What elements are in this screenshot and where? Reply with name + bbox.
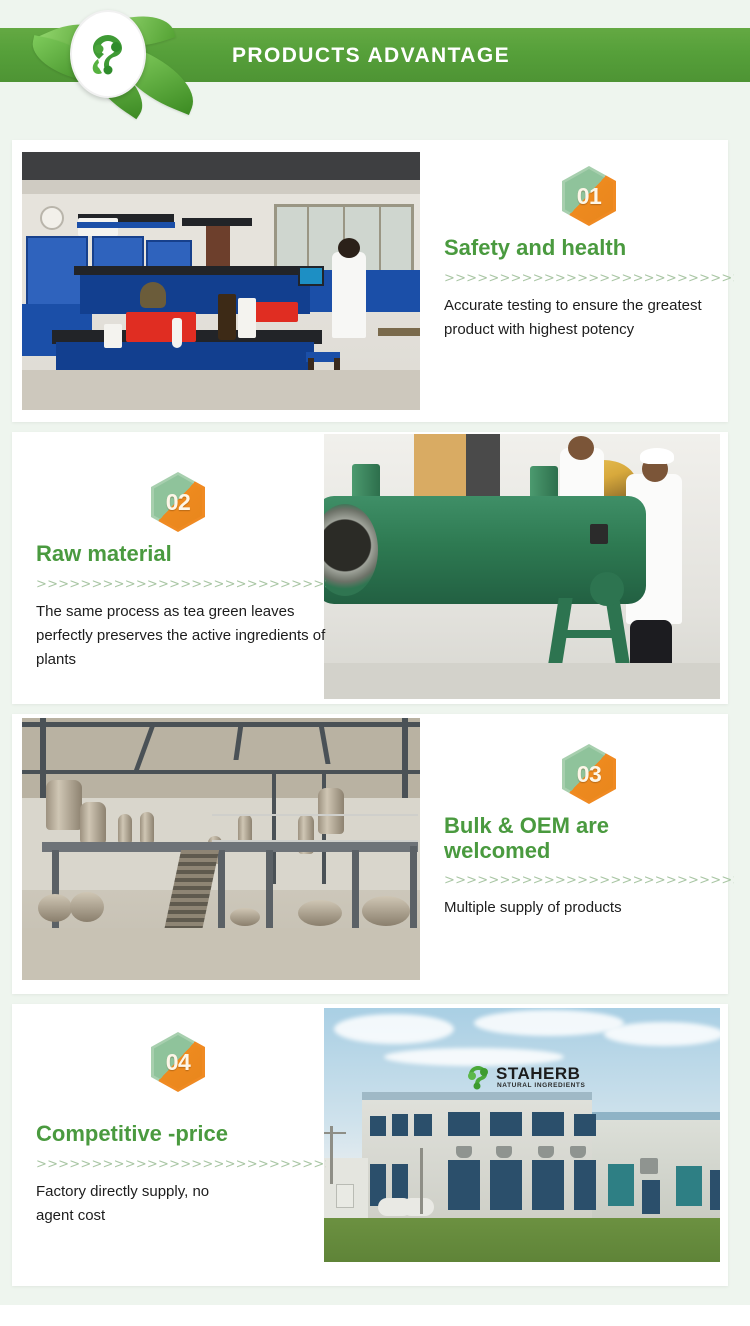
step-badge-01: 01 [562,166,616,226]
card-title: Safety and health [444,236,734,261]
building-sign-subtitle: NATURAL INGREDIENTS [497,1082,585,1089]
card-title: Raw material [36,542,326,567]
step-number: 02 [166,489,191,516]
product-advantage-page: PRODUCTS ADVANTAGE [0,0,750,1326]
advantage-text-02: 02 Raw material >>>>>>>>>>>>>>>>>>>>>>>>… [36,472,326,673]
step-number: 01 [577,183,602,210]
advantage-card-02: 02 Raw material >>>>>>>>>>>>>>>>>>>>>>>>… [12,432,728,704]
logo-circle-icon [70,10,146,98]
step-badge-03: 03 [562,744,616,804]
chevron-divider: >>>>>>>>>>>>>>>>>>>>>>>>>>>>>> [36,1157,326,1172]
step-number: 04 [166,1049,191,1076]
card-title: Competitive -price [36,1122,326,1147]
chevron-divider: >>>>>>>>>>>>>>>>>>>>>>>>>>>>>> [444,873,734,888]
advantage-text-03: 03 Bulk & OEM are welcomed >>>>>>>>>>>>>… [444,744,734,921]
laboratory-testing-photo [22,152,420,410]
advantage-card-03: 03 Bulk & OEM are welcomed >>>>>>>>>>>>>… [12,714,728,994]
page-header: PRODUCTS ADVANTAGE [0,0,750,110]
chevron-divider: >>>>>>>>>>>>>>>>>>>>>>>>>>>>>> [36,577,326,592]
extraction-workshop-photo [22,718,420,980]
page-title: PRODUCTS ADVANTAGE [232,44,510,68]
advantage-card-01: 01 Safety and health >>>>>>>>>>>>>>>>>>>… [12,140,728,422]
card-body: Accurate testing to ensure the greatest … [444,294,734,343]
card-title: Bulk & OEM are welcomed [444,814,654,863]
company-building-photo: STAHERB NATURAL INGREDIENTS [324,1008,720,1262]
card-body: The same process as tea green leaves per… [36,600,326,673]
staherb-logo-icon [464,1064,492,1095]
step-badge-02: 02 [151,472,205,532]
brand-logo [20,0,220,110]
step-number: 03 [577,761,602,788]
card-body: Multiple supply of products [444,896,624,920]
chevron-divider: >>>>>>>>>>>>>>>>>>>>>>>>>>>>>> [444,271,734,286]
building-sign-name: STAHERB [496,1064,580,1084]
advantage-card-04: STAHERB NATURAL INGREDIENTS [12,1004,728,1286]
card-body: Factory directly supply, no agent cost [36,1180,236,1229]
step-badge-04: 04 [151,1032,205,1092]
tea-roasting-machine-photo [324,434,720,699]
advantage-text-04: 04 Competitive -price >>>>>>>>>>>>>>>>>>… [36,1032,326,1228]
advantage-text-01: 01 Safety and health >>>>>>>>>>>>>>>>>>>… [444,166,734,342]
bottom-white-strip [0,1305,750,1326]
